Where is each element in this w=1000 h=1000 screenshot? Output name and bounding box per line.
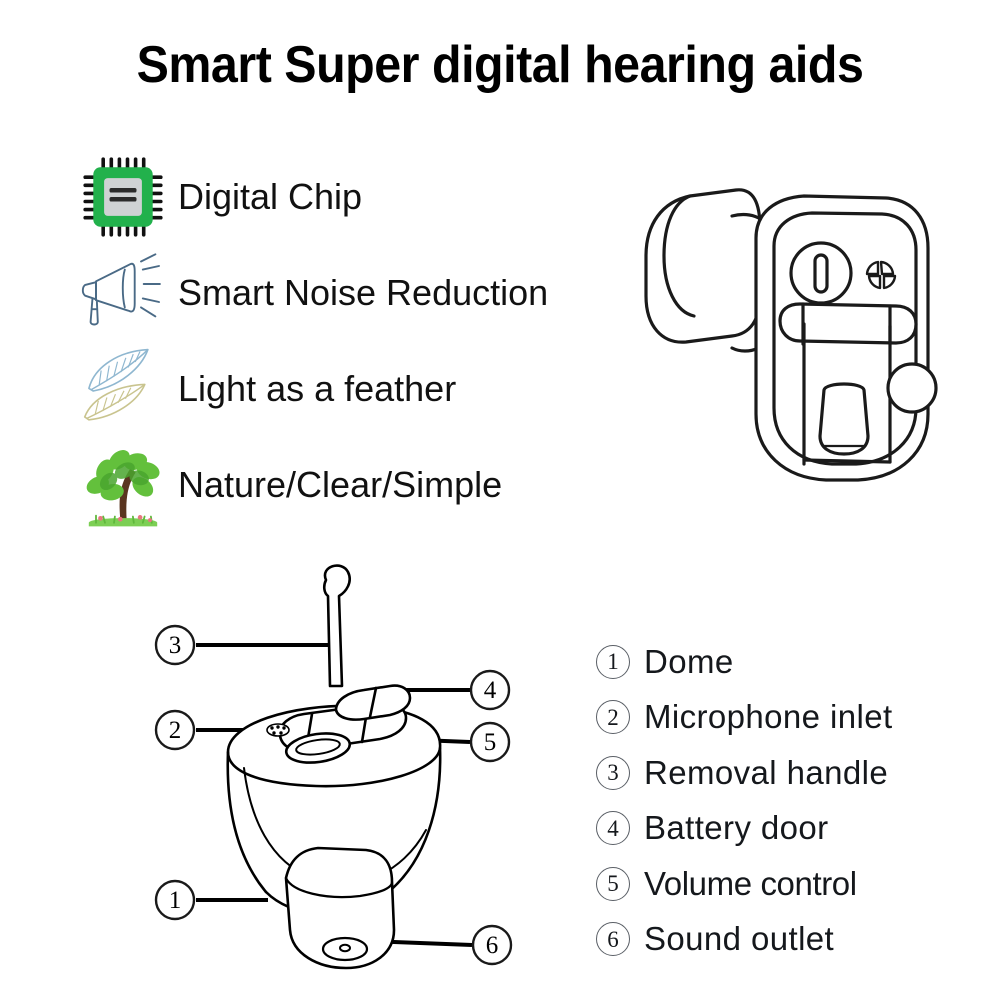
legend-number: 4 (596, 811, 630, 845)
legend-item-removal-handle: 3 Removal handle (596, 745, 986, 801)
callout-6: 6 (473, 926, 511, 964)
legend-label: Microphone inlet (644, 698, 893, 736)
legend-item-microphone-inlet: 2 Microphone inlet (596, 690, 986, 746)
legend-label: Removal handle (644, 754, 888, 792)
legend-number: 5 (596, 867, 630, 901)
legend-label: Volume control (644, 865, 857, 903)
feature-label: Nature/Clear/Simple (178, 440, 502, 530)
hearing-aid-illustration (628, 176, 938, 506)
callout-1: 1 (156, 881, 194, 919)
megaphone-icon (78, 248, 168, 338)
legend-item-battery-door: 4 Battery door (596, 801, 986, 857)
feature-label: Smart Noise Reduction (178, 248, 548, 338)
feature-item-digital-chip: Digital Chip (78, 152, 638, 248)
tree-icon (78, 440, 168, 530)
feature-item-nature: Nature/Clear/Simple (78, 440, 638, 536)
legend-item-volume-control: 5 Volume control (596, 856, 986, 912)
feature-item-noise-reduction: Smart Noise Reduction (78, 248, 638, 344)
feature-item-light-feather: Light as a feather (78, 344, 638, 440)
legend-number: 1 (596, 645, 630, 679)
svg-text:6: 6 (486, 932, 499, 959)
svg-text:4: 4 (484, 677, 497, 704)
legend-item-sound-outlet: 6 Sound outlet (596, 912, 986, 968)
page-title: Smart Super digital hearing aids (35, 36, 965, 94)
feature-list: Digital Chip (78, 152, 638, 536)
feature-label: Digital Chip (178, 152, 362, 242)
feature-label: Light as a feather (178, 344, 456, 434)
parts-legend: 1 Dome 2 Microphone inlet 3 Removal hand… (596, 634, 986, 967)
legend-number: 3 (596, 756, 630, 790)
svg-text:3: 3 (169, 632, 182, 659)
callout-3: 3 (156, 626, 194, 664)
legend-label: Dome (644, 643, 734, 681)
chip-icon (78, 152, 168, 242)
legend-label: Battery door (644, 809, 829, 847)
legend-number: 2 (596, 700, 630, 734)
callout-2: 2 (156, 711, 194, 749)
infographic-page: Smart Super digital hearing aids (0, 0, 1000, 1000)
legend-item-dome: 1 Dome (596, 634, 986, 690)
callout-4: 4 (471, 671, 509, 709)
svg-text:2: 2 (169, 717, 182, 744)
svg-text:1: 1 (169, 887, 182, 914)
labeled-hearing-aid-diagram: 3 2 4 5 1 (140, 556, 540, 986)
feather-icon (78, 344, 168, 434)
legend-label: Sound outlet (644, 920, 834, 958)
callout-5: 5 (471, 723, 509, 761)
svg-text:5: 5 (484, 729, 497, 756)
legend-number: 6 (596, 922, 630, 956)
